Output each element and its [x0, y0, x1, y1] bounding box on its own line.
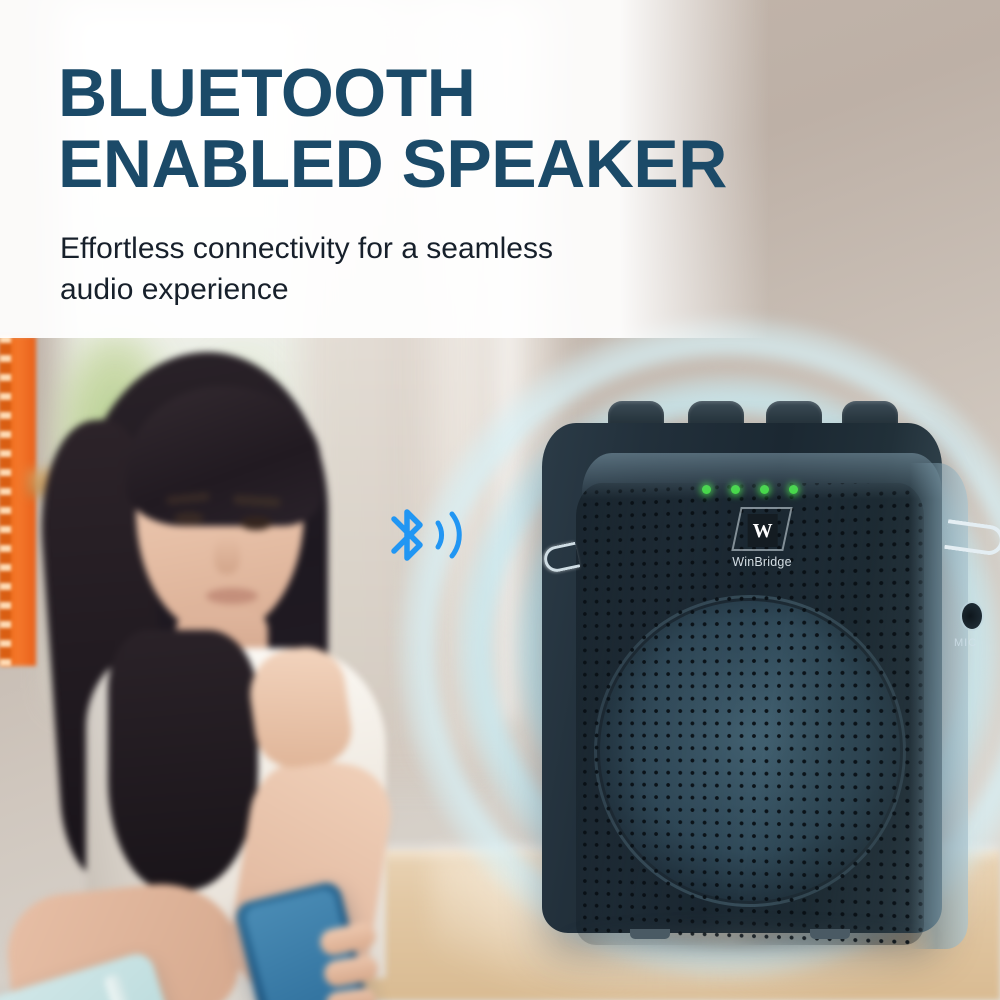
mic-port[interactable]	[962, 603, 982, 629]
speaker-foot-left	[630, 929, 670, 939]
speaker-body: W WinBridge MIC	[542, 423, 942, 933]
page-subtitle: Effortless connectivity for a seamless a…	[60, 228, 780, 311]
headline-line-2: ENABLED SPEAKER	[58, 129, 958, 200]
hair-over-shoulder	[108, 630, 258, 890]
logo-parallelogram-icon: W	[731, 507, 792, 551]
speaker-shadow	[560, 923, 940, 953]
bluetooth-icon	[380, 497, 472, 573]
body-top-highlight	[582, 453, 942, 499]
mic-port-label: MIC	[954, 637, 977, 649]
headline-line-1: BLUETOOTH	[58, 55, 475, 131]
subheadline-line-2: audio experience	[60, 273, 289, 306]
eye-left	[174, 512, 204, 525]
subheadline-line-1: Effortless connectivity for a seamless	[60, 232, 553, 265]
logo-letter: W	[753, 521, 773, 541]
person-woman-using-phone	[0, 330, 420, 1000]
nose	[214, 536, 240, 574]
eye-right	[240, 516, 272, 530]
speaker-foot-right	[810, 929, 850, 939]
strap-hook-left-icon	[542, 542, 581, 575]
logo-square: W	[748, 514, 778, 547]
product-marketing-banner: W WinBridge MIC BLUETOOTH ENABLED SPEAKE…	[0, 0, 1000, 1000]
page-title: BLUETOOTH ENABLED SPEAKER	[58, 58, 958, 199]
bluetooth-speaker-product: W WinBridge MIC	[520, 395, 970, 950]
brand-logo: W WinBridge	[714, 507, 810, 571]
mouth	[206, 588, 258, 604]
brand-name: WinBridge	[714, 555, 810, 569]
